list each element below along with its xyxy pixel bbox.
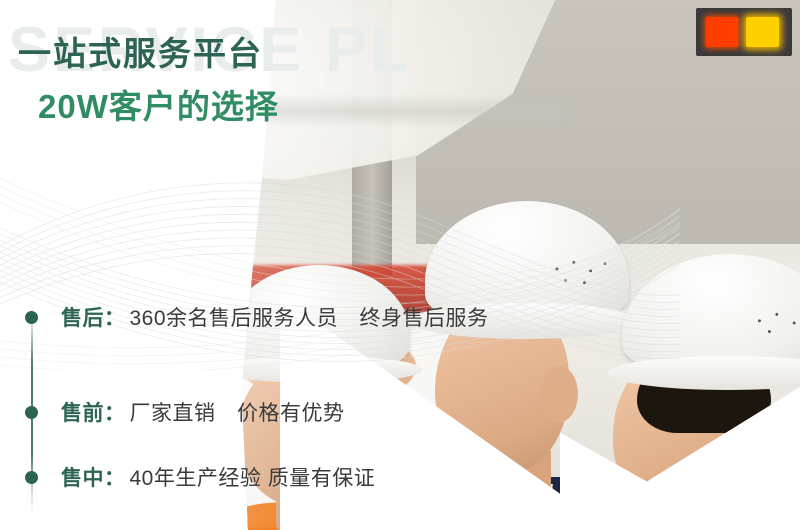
headline-block: 一站式服务平台 20W客户的选择 <box>0 34 330 128</box>
led-sign <box>696 8 792 56</box>
worker-center-helmet-vents <box>551 257 611 287</box>
bullet-dot-icon <box>25 471 38 484</box>
headline-secondary: 20W客户的选择 <box>0 87 330 127</box>
feature-label: 售前： <box>61 397 126 427</box>
bullet-dot-icon <box>25 311 38 324</box>
feature-label: 售中： <box>61 462 126 492</box>
feature-item-presale: 售前： 厂家直销 价格有优势 <box>22 395 345 429</box>
headline-primary: 一站式服务平台 <box>0 34 330 74</box>
feature-text: 厂家直销 价格有优势 <box>130 397 345 427</box>
feature-item-insale: 售中： 40年生产经验 质量有保证 <box>22 460 375 494</box>
promo-banner: 人和 保冷 <box>0 0 800 530</box>
feature-list: 售前： 厂家直销 价格有优势 售中： 40年生产经验 质量有保证 售后： 360… <box>22 300 642 515</box>
feature-label: 售后： <box>61 302 126 332</box>
worker-right-helmet-vents <box>752 310 800 338</box>
feature-item-aftersale: 售后： 360余名售后服务人员 终身售后服务 <box>22 300 489 334</box>
bullet-dot-icon <box>25 406 38 419</box>
feature-text: 360余名售后服务人员 终身售后服务 <box>130 302 489 332</box>
feature-text: 40年生产经验 质量有保证 <box>130 462 376 492</box>
